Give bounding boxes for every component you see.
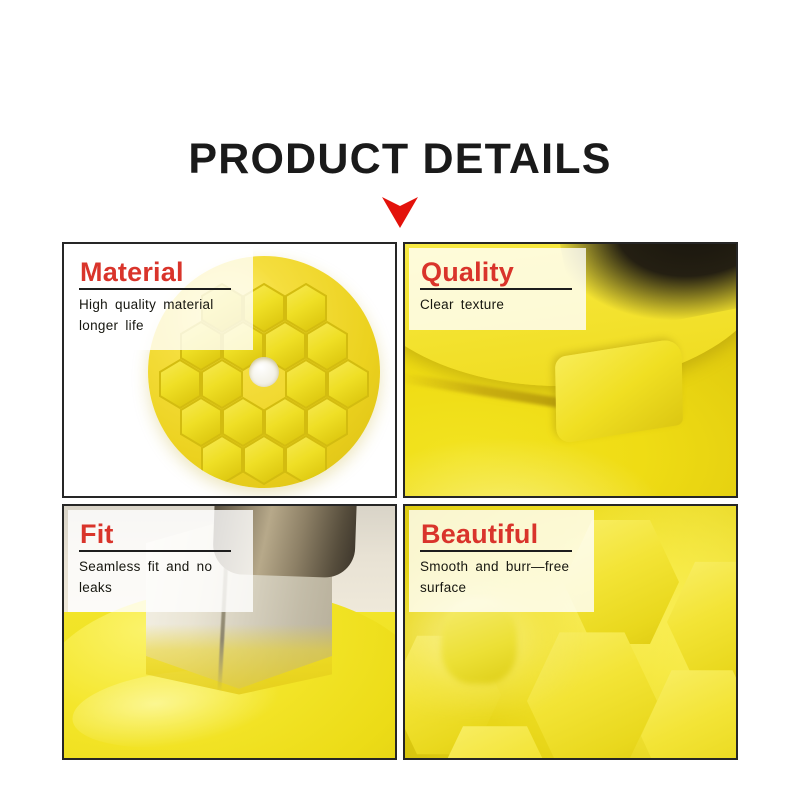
down-arrow-icon [380,194,420,230]
caption-rule [79,288,231,290]
caption-heading: Quality [421,258,572,286]
detail-panel-quality[interactable]: Quality Clear texture [403,242,738,498]
product-detail-grid: Material High quality material longer li… [62,242,738,760]
disc-center-hole [249,357,279,387]
caption-body: Clear texture [420,295,572,315]
detail-panel-beautiful[interactable]: Beautiful Smooth and burr—free surface [403,504,738,760]
caption-rule [420,550,572,552]
caption-heading: Fit [80,520,239,548]
caption-material: Material High quality material longer li… [68,248,253,350]
detail-panel-material[interactable]: Material High quality material longer li… [62,242,397,498]
caption-heading: Beautiful [421,520,580,548]
caption-rule [79,550,231,552]
detail-panel-fit[interactable]: Fit Seamless fit and no leaks [62,504,397,760]
caption-body: Smooth and burr—free surface [420,557,580,598]
caption-heading: Material [80,258,239,286]
caption-body: Seamless fit and no leaks [79,557,239,598]
page-title: PRODUCT DETAILS [0,138,800,181]
caption-quality: Quality Clear texture [409,248,586,330]
caption-fit: Fit Seamless fit and no leaks [68,510,253,612]
caption-body: High quality material longer life [79,295,239,336]
header: PRODUCT DETAILS [0,0,800,242]
gloss-highlight [405,404,736,496]
caption-beautiful: Beautiful Smooth and burr—free surface [409,510,594,612]
caption-rule [420,288,572,290]
